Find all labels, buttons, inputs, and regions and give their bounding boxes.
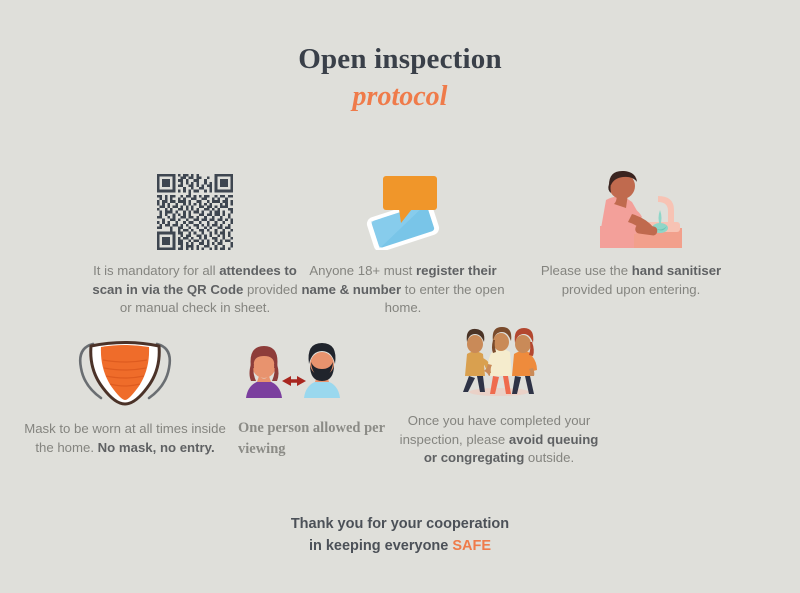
- rule-qr-check-in-caption: It is mandatory for all attendees to sca…: [92, 262, 298, 318]
- qr-code-icon: [92, 172, 298, 250]
- rule-hand-sanitiser-caption: Please use the hand sanitiser provided u…: [528, 262, 734, 299]
- face-mask-icon: [22, 334, 228, 406]
- rule-wear-mask-caption: Mask to be worn at all times inside the …: [22, 420, 228, 457]
- rule-hand-sanitiser: Please use the hand sanitiser provided u…: [528, 166, 734, 299]
- footer-thank-you: Thank you for your cooperation in keepin…: [0, 514, 800, 558]
- rule-one-person-per-viewing: One person allowed per viewing: [230, 340, 408, 460]
- rule-avoid-congregating-caption: Once you have completed your inspection,…: [396, 412, 602, 468]
- title-line-2: protocol: [0, 79, 800, 114]
- footer-line-1: Thank you for your cooperation: [0, 514, 800, 536]
- footer-line-2-prefix: in keeping everyone: [309, 538, 452, 554]
- phone-message-icon: [300, 172, 506, 250]
- rule-one-person-per-viewing-caption: One person allowed per viewing: [230, 418, 408, 460]
- rule-qr-check-in: It is mandatory for all attendees to sca…: [92, 172, 298, 318]
- group-of-people-icon: [396, 326, 602, 398]
- social-distancing-icon: [230, 340, 416, 402]
- hand-washing-icon: [528, 166, 734, 252]
- footer-line-2: in keeping everyone SAFE: [0, 536, 800, 558]
- rule-register-details: Anyone 18+ must register their name & nu…: [300, 172, 506, 318]
- poster-title: Open inspection protocol: [0, 44, 800, 114]
- open-inspection-protocol-poster: Open inspection protocol: [0, 0, 800, 593]
- footer-safe-highlight: SAFE: [452, 538, 491, 554]
- rule-avoid-congregating: Once you have completed your inspection,…: [396, 326, 602, 468]
- rule-register-details-caption: Anyone 18+ must register their name & nu…: [300, 262, 506, 318]
- rule-wear-mask: Mask to be worn at all times inside the …: [22, 334, 228, 457]
- title-line-1: Open inspection: [0, 44, 800, 75]
